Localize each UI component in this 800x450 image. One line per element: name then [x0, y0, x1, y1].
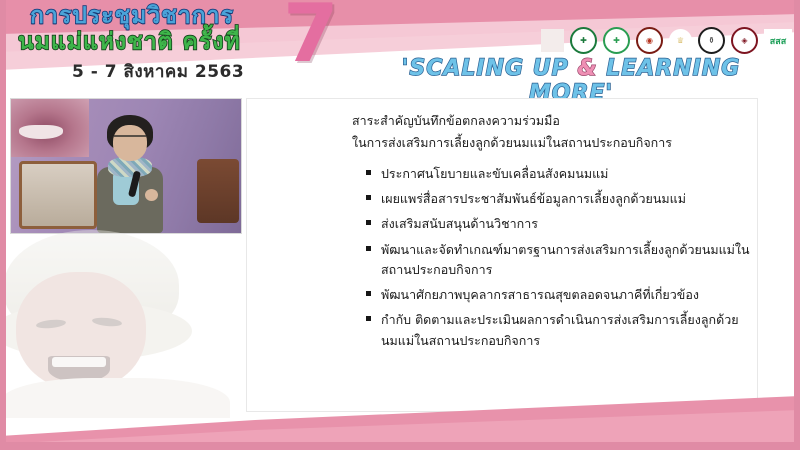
conference-title-line2: นมแม่แห่งชาติ ครั้งที่ [14, 30, 314, 54]
list-item: พัฒนาและจัดทำเกณฑ์มาตรฐานการส่งเสริมการเ… [366, 240, 752, 281]
frame-bottom-edge [0, 442, 800, 450]
speaker-hand [145, 189, 158, 201]
speaker-figure [89, 115, 171, 233]
health-department-logo: ✚ [603, 27, 630, 54]
chair-left [19, 161, 97, 229]
slogan-prefix: 'SCALING UP [402, 56, 578, 81]
slogan-ampersand: & [577, 56, 597, 81]
intro-paragraph: สาระสำคัญบันทึกข้อตกลงความร่วมมือ ในการส… [352, 110, 752, 154]
intro-line-2: ในการส่งเสริมการเลี้ยงลูกด้วยนมแม่ในสถาน… [352, 132, 752, 154]
chair-right [197, 159, 239, 223]
list-item: ประกาศนโยบายและขับเคลื่อนสังคมนมแม่ [366, 164, 752, 184]
thaihealth-sss-logo: สสส [764, 29, 792, 52]
frame-right-edge [794, 0, 800, 450]
child-body [0, 378, 230, 418]
partner-logos-row: ✚ ✚ ◉ ♕ ⚱ ◈ สสส [541, 27, 792, 54]
royal-crown-logo: ◉ [636, 27, 663, 54]
conference-title-block: การประชุมวิชาการ นมแม่แห่งชาติ ครั้งที่ … [14, 4, 314, 85]
royal-seal-logo [541, 29, 564, 52]
backdrop-mouth-graphic [11, 99, 89, 157]
list-item: เผยแพร่สื่อสารประชาสัมพันธ์ข้อมูลการเลี้… [366, 189, 752, 209]
list-item: กำกับ ติดตามและประเมินผลการดำเนินการส่งเ… [366, 310, 752, 351]
intro-line-1: สาระสำคัญบันทึกข้อตกลงความร่วมมือ [352, 110, 752, 132]
edition-number: 7 [283, 0, 339, 74]
bullet-list: ประกาศนโยบายและขับเคลื่อนสังคมนมแม่ เผยแ… [352, 164, 752, 351]
child-teeth [52, 357, 106, 367]
speaker-glasses [114, 135, 146, 144]
speaker-video-panel[interactable] [10, 98, 242, 234]
ministry-public-health-logo: ✚ [570, 27, 597, 54]
red-shield-emblem-logo: ◈ [731, 27, 758, 54]
frame-left-edge [0, 0, 6, 450]
list-item: พัฒนาศักยภาพบุคลากรสาธารณสุขตลอดจนภาคีที… [366, 285, 752, 305]
slide-body: สาระสำคัญบันทึกข้อตกลงความร่วมมือ ในการส… [352, 110, 752, 356]
conference-title-line1: การประชุมวิชาการ [14, 4, 314, 28]
list-item: ส่งเสริมสนับสนุนด้านวิชาการ [366, 214, 752, 234]
garuda-emblem-logo: ♕ [669, 29, 692, 52]
conference-date: 5 - 7 สิงหาคม 2563 [14, 58, 314, 85]
presentation-slide: การประชุมวิชาการ นมแม่แห่งชาติ ครั้งที่ … [0, 0, 800, 450]
black-circle-emblem-logo: ⚱ [698, 27, 725, 54]
child-photo-watermark [0, 228, 250, 418]
